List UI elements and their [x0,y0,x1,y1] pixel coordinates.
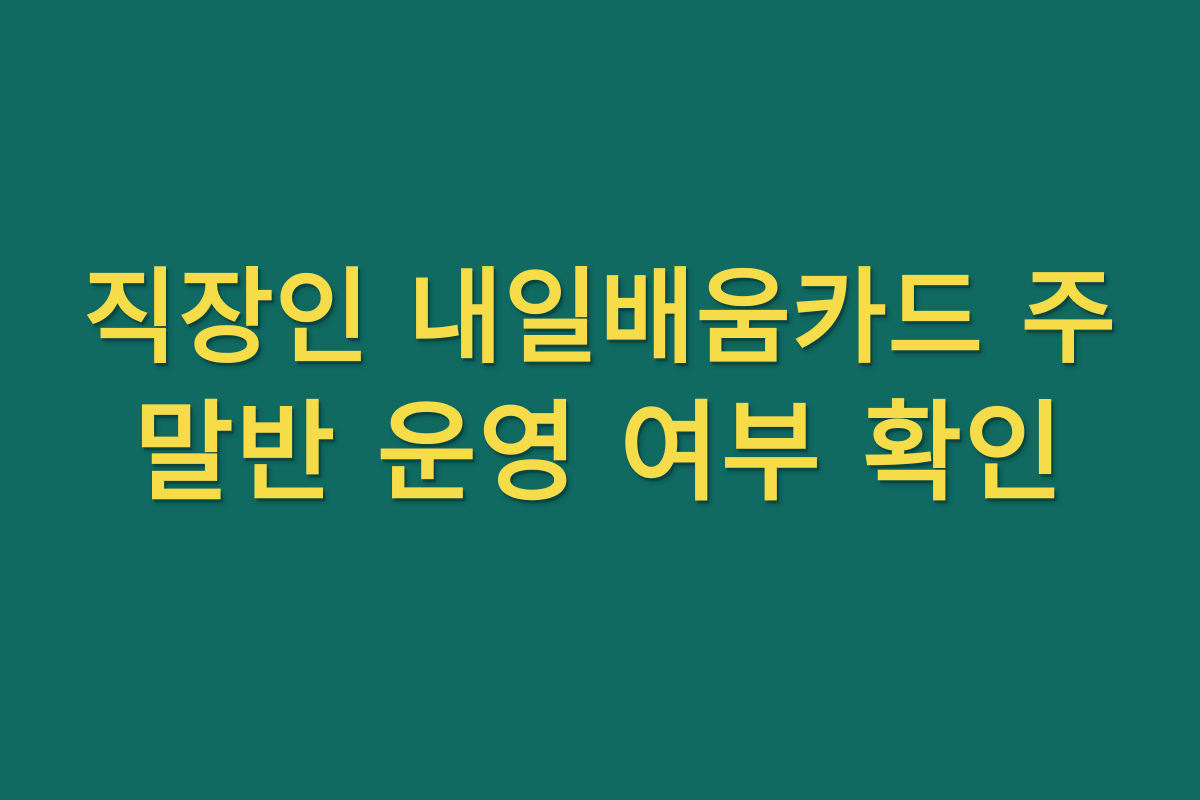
headline-line-2: 말반 운영 여부 확인 [80,385,1120,523]
text-thumbnail-card: 직장인 내일배움카드 주 말반 운영 여부 확인 [0,0,1200,800]
headline-block: 직장인 내일배움카드 주 말반 운영 여부 확인 [70,253,1130,523]
headline-line-1: 직장인 내일배움카드 주 [80,253,1120,385]
